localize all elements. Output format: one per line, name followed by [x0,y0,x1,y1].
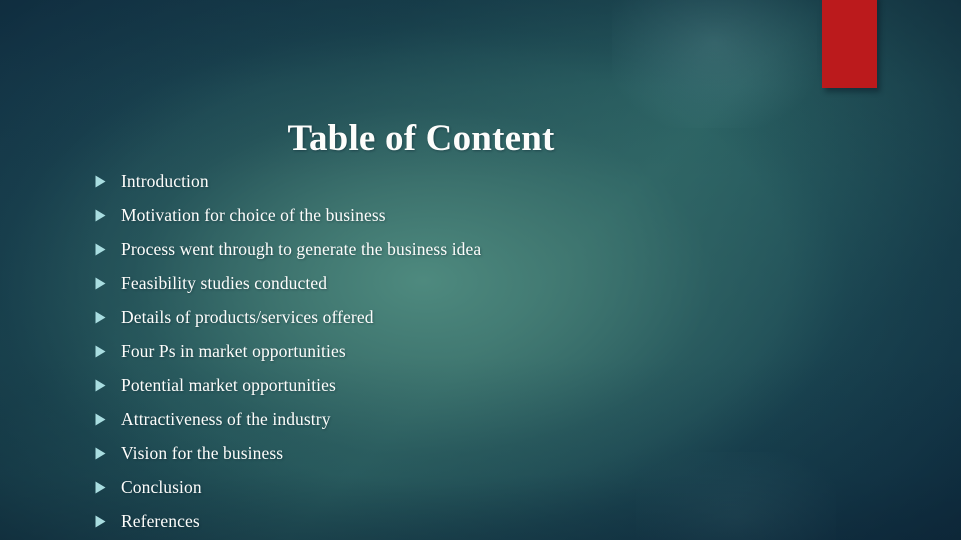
triangle-bullet-icon [95,243,106,256]
toc-item-process[interactable]: Process went through to generate the bus… [95,232,835,266]
toc-item-label: Conclusion [121,476,202,498]
toc-item-potential-market[interactable]: Potential market opportunities [95,368,835,402]
triangle-bullet-icon [95,209,106,222]
triangle-bullet-icon [95,447,106,460]
toc-item-four-ps[interactable]: Four Ps in market opportunities [95,334,835,368]
toc-item-label: Feasibility studies conducted [121,272,327,294]
toc-item-label: References [121,510,200,532]
toc-item-feasibility[interactable]: Feasibility studies conducted [95,266,835,300]
triangle-bullet-icon [95,311,106,324]
triangle-bullet-icon [95,345,106,358]
presentation-slide: Table of Content Introduction Motivation… [0,0,961,540]
red-accent-block [822,0,877,88]
toc-item-vision[interactable]: Vision for the business [95,436,835,470]
triangle-bullet-icon [95,175,106,188]
triangle-bullet-icon [95,277,106,290]
toc-item-products-services[interactable]: Details of products/services offered [95,300,835,334]
toc-item-label: Vision for the business [121,442,283,464]
triangle-bullet-icon [95,379,106,392]
toc-item-motivation[interactable]: Motivation for choice of the business [95,198,835,232]
toc-item-label: Attractiveness of the industry [121,408,331,430]
toc-item-conclusion[interactable]: Conclusion [95,470,835,504]
triangle-bullet-icon [95,481,106,494]
toc-item-label: Introduction [121,170,209,192]
triangle-bullet-icon [95,413,106,426]
toc-item-introduction[interactable]: Introduction [95,164,835,198]
toc-item-label: Potential market opportunities [121,374,336,396]
toc-item-attractiveness[interactable]: Attractiveness of the industry [95,402,835,436]
toc-item-label: Details of products/services offered [121,306,374,328]
toc-item-references[interactable]: References [95,504,835,538]
table-of-contents-list: Introduction Motivation for choice of th… [95,164,835,538]
slide-title: Table of Content [120,117,722,161]
toc-item-label: Process went through to generate the bus… [121,238,481,260]
toc-item-label: Four Ps in market opportunities [121,340,346,362]
toc-item-label: Motivation for choice of the business [121,204,386,226]
triangle-bullet-icon [95,515,106,528]
